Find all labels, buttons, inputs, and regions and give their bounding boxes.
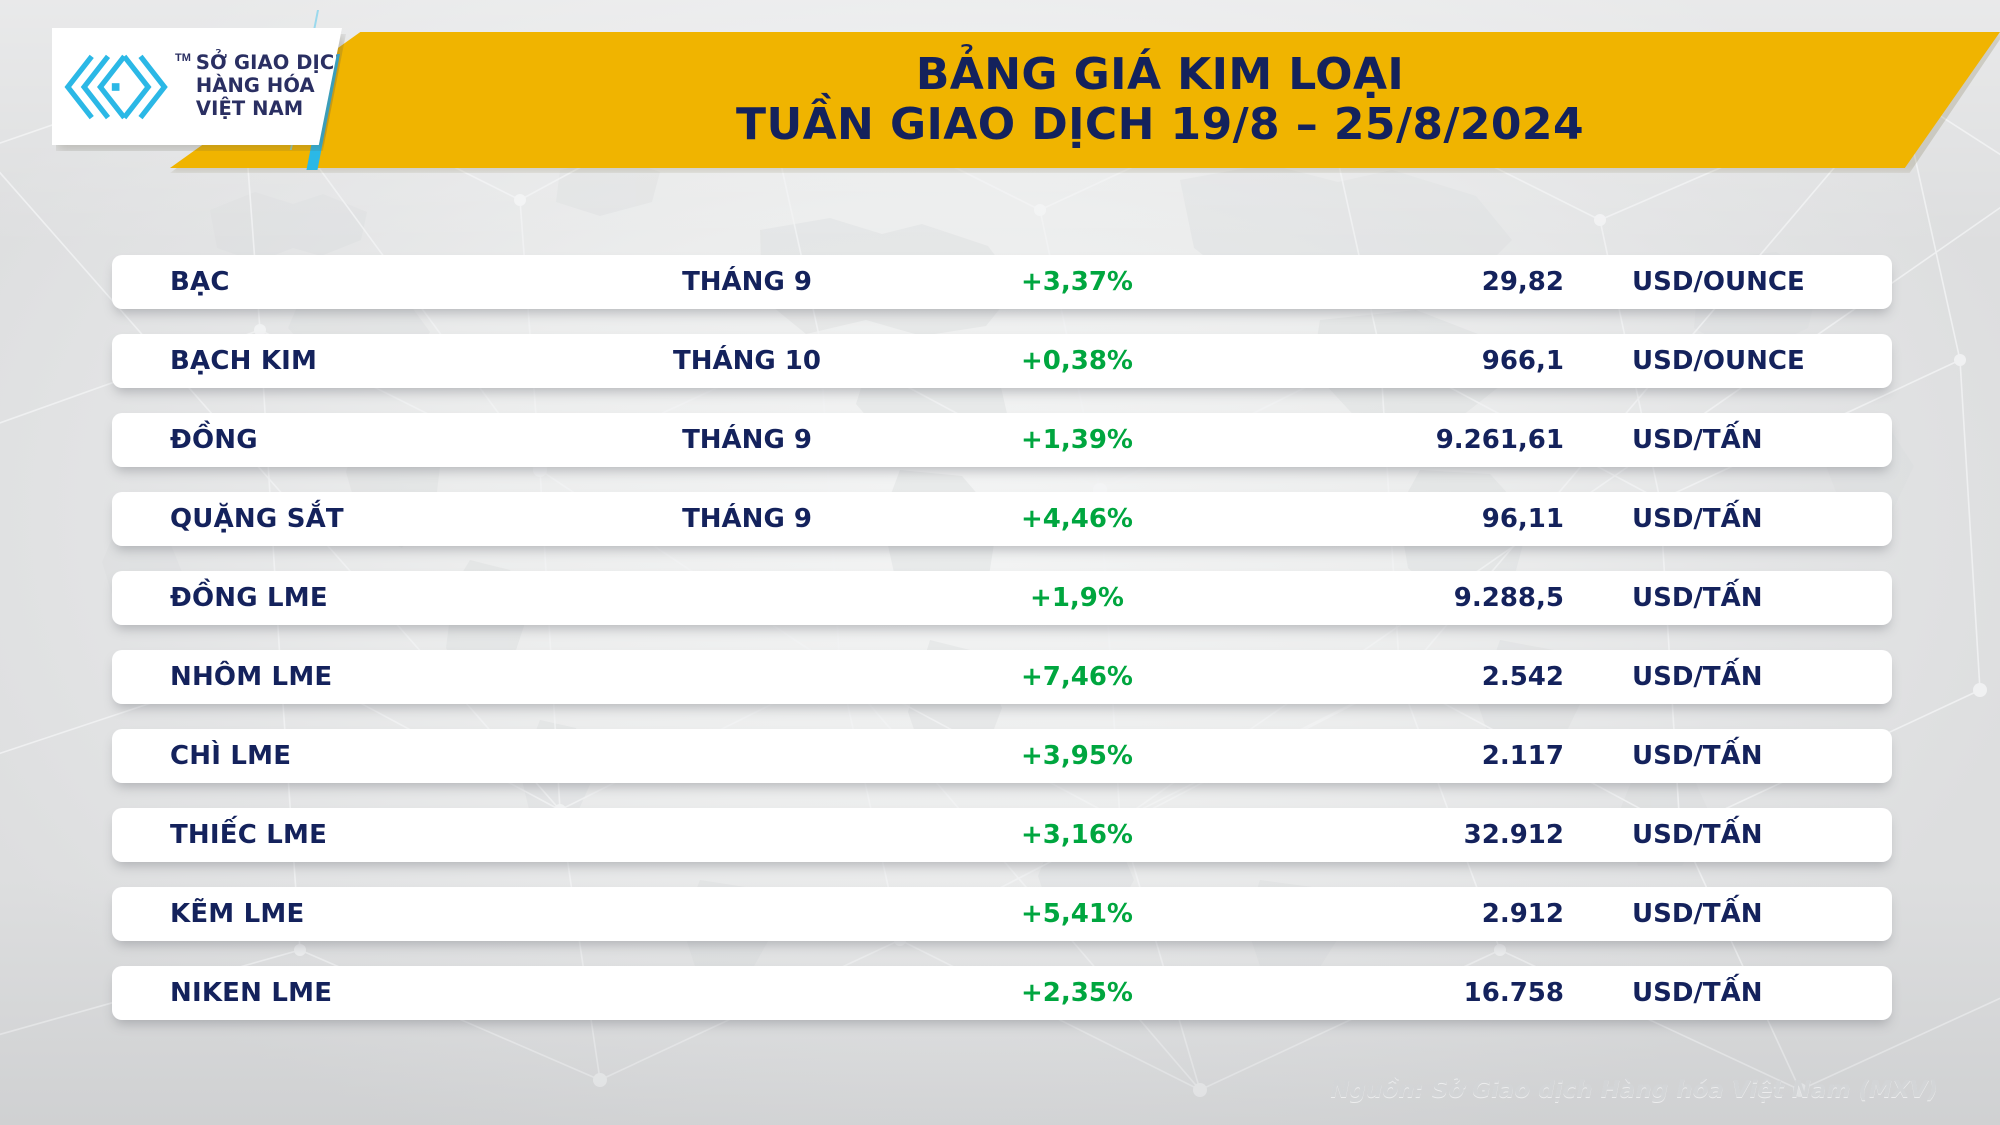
- row-change-percent: +3,95%: [912, 741, 1242, 771]
- logo-line-1: SỞ GIAO DỊCH: [196, 52, 351, 75]
- row-commodity-name: KẼM LME: [112, 899, 582, 929]
- metals-price-table: BẠCTHÁNG 9+3,37%29,82USD/OUNCEBẠCH KIMTH…: [112, 255, 1892, 1020]
- row-price-unit: USD/OUNCE: [1572, 346, 1892, 376]
- logo-card: TM SỞ GIAO DỊCH HÀNG HÓA VIỆT NAM: [52, 28, 342, 145]
- row-commodity-name: QUẶNG SẮT: [112, 504, 582, 534]
- row-price-unit: USD/TẤN: [1572, 662, 1892, 692]
- row-change-percent: +3,16%: [912, 820, 1242, 850]
- row-price-value: 9.288,5: [1242, 583, 1572, 613]
- row-price-unit: USD/TẤN: [1572, 899, 1892, 929]
- row-price-value: 2.912: [1242, 899, 1572, 929]
- table-row[interactable]: CHÌ LME+3,95%2.117USD/TẤN: [112, 729, 1892, 783]
- row-commodity-name: ĐỒNG LME: [112, 583, 582, 613]
- row-price-unit: USD/TẤN: [1572, 504, 1892, 534]
- row-change-percent: +2,35%: [912, 978, 1242, 1008]
- row-price-value: 16.758: [1242, 978, 1572, 1008]
- page-subtitle: TUẦN GIAO DỊCH 19/8 – 25/8/2024: [736, 101, 1584, 149]
- table-row[interactable]: QUẶNG SẮTTHÁNG 9+4,46%96,11USD/TẤN: [112, 492, 1892, 546]
- row-price-unit: USD/TẤN: [1572, 583, 1892, 613]
- row-price-unit: USD/OUNCE: [1572, 267, 1892, 297]
- row-price-unit: USD/TẤN: [1572, 741, 1892, 771]
- infographic-page: TM SỞ GIAO DỊCH HÀNG HÓA VIỆT NAM BẢNG G…: [0, 0, 2000, 1125]
- row-contract-month: THÁNG 9: [582, 425, 912, 455]
- table-row[interactable]: THIẾC LME+3,16%32.912USD/TẤN: [112, 808, 1892, 862]
- table-row[interactable]: ĐỒNG LME+1,9%9.288,5USD/TẤN: [112, 571, 1892, 625]
- row-commodity-name: CHÌ LME: [112, 741, 582, 771]
- row-price-value: 2.542: [1242, 662, 1572, 692]
- row-change-percent: +7,46%: [912, 662, 1242, 692]
- row-change-percent: +4,46%: [912, 504, 1242, 534]
- row-contract-month: THÁNG 9: [582, 267, 912, 297]
- row-change-percent: +1,39%: [912, 425, 1242, 455]
- row-price-value: 29,82: [1242, 267, 1572, 297]
- header-banner: TM SỞ GIAO DỊCH HÀNG HÓA VIỆT NAM BẢNG G…: [0, 0, 2000, 185]
- row-commodity-name: NHÔM LME: [112, 662, 582, 692]
- table-row[interactable]: ĐỒNGTHÁNG 9+1,39%9.261,61USD/TẤN: [112, 413, 1892, 467]
- row-commodity-name: ĐỒNG: [112, 425, 582, 455]
- table-row[interactable]: NHÔM LME+7,46%2.542USD/TẤN: [112, 650, 1892, 704]
- row-change-percent: +0,38%: [912, 346, 1242, 376]
- mxv-logo-icon: [64, 53, 174, 121]
- row-price-value: 96,11: [1242, 504, 1572, 534]
- row-price-unit: USD/TẤN: [1572, 978, 1892, 1008]
- row-price-unit: USD/TẤN: [1572, 820, 1892, 850]
- row-contract-month: THÁNG 9: [582, 504, 912, 534]
- table-row[interactable]: KẼM LME+5,41%2.912USD/TẤN: [112, 887, 1892, 941]
- row-change-percent: +3,37%: [912, 267, 1242, 297]
- table-row[interactable]: BẠCH KIMTHÁNG 10+0,38%966,1USD/OUNCE: [112, 334, 1892, 388]
- row-price-unit: USD/TẤN: [1572, 425, 1892, 455]
- row-price-value: 32.912: [1242, 820, 1572, 850]
- row-price-value: 9.261,61: [1242, 425, 1572, 455]
- row-change-percent: +5,41%: [912, 899, 1242, 929]
- row-commodity-name: THIẾC LME: [112, 820, 582, 850]
- row-change-percent: +1,9%: [912, 583, 1242, 613]
- row-price-value: 966,1: [1242, 346, 1572, 376]
- logo-line-2: HÀNG HÓA: [196, 75, 351, 98]
- source-credit: Nguồn: Sở Giao dịch Hàng hóa Việt Nam (M…: [1330, 1077, 1938, 1103]
- row-commodity-name: BẠC: [112, 267, 582, 297]
- row-commodity-name: BẠCH KIM: [112, 346, 582, 376]
- trademark-icon: TM: [175, 52, 191, 64]
- table-row[interactable]: BẠCTHÁNG 9+3,37%29,82USD/OUNCE: [112, 255, 1892, 309]
- row-commodity-name: NIKEN LME: [112, 978, 582, 1008]
- row-contract-month: THÁNG 10: [582, 346, 912, 376]
- page-title: BẢNG GIÁ KIM LOẠI: [916, 51, 1404, 99]
- table-row[interactable]: NIKEN LME+2,35%16.758USD/TẤN: [112, 966, 1892, 1020]
- row-price-value: 2.117: [1242, 741, 1572, 771]
- header-title-group: BẢNG GIÁ KIM LOẠI TUẦN GIAO DỊCH 19/8 – …: [420, 34, 1900, 166]
